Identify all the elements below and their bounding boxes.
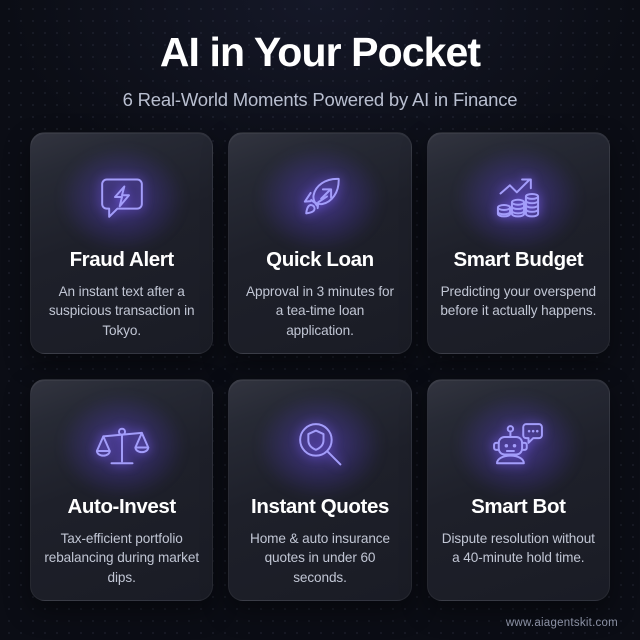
rocket-icon <box>241 155 398 239</box>
card-title: Fraud Alert <box>70 248 174 272</box>
card-description: Tax-efficient portfolio rebalancing duri… <box>43 529 200 587</box>
page-title: AI in Your Pocket <box>0 31 640 74</box>
card-title: Auto-Invest <box>67 495 175 519</box>
feature-card-instant-quotes[interactable]: Instant Quotes Home & auto insurance quo… <box>228 379 411 601</box>
card-description: Home & auto insurance quotes in under 60… <box>241 529 398 587</box>
card-description: Predicting your overspend before it actu… <box>440 282 597 321</box>
feature-card-smart-bot[interactable]: Smart Bot Dispute resolution without a 4… <box>427 379 610 601</box>
feature-card-quick-loan[interactable]: Quick Loan Approval in 3 minutes for a t… <box>228 132 411 354</box>
feature-card-smart-budget[interactable]: Smart Budget Predicting your overspend b… <box>427 132 610 354</box>
coin-stacks-growth-icon <box>440 155 597 239</box>
page-subtitle: 6 Real-World Moments Powered by AI in Fi… <box>0 89 640 111</box>
card-description: Dispute resolution without a 40-minute h… <box>440 529 597 568</box>
footer-website-label: www.aiagentskit.com <box>506 617 618 629</box>
feature-card-grid: Fraud Alert An instant text after a susp… <box>30 132 610 601</box>
card-description: An instant text after a suspicious trans… <box>43 282 200 340</box>
magnifier-shield-icon <box>241 402 398 486</box>
card-title: Instant Quotes <box>251 495 389 519</box>
poster-header: AI in Your Pocket 6 Real-World Moments P… <box>0 0 640 111</box>
feature-card-fraud-alert[interactable]: Fraud Alert An instant text after a susp… <box>30 132 213 354</box>
poster-canvas: AI in Your Pocket 6 Real-World Moments P… <box>0 0 640 640</box>
card-title: Smart Bot <box>471 495 565 519</box>
robot-chat-icon <box>440 402 597 486</box>
card-description: Approval in 3 minutes for a tea-time loa… <box>241 282 398 340</box>
balance-scale-icon <box>43 402 200 486</box>
chat-bubble-lightning-icon <box>43 155 200 239</box>
card-title: Quick Loan <box>266 248 374 272</box>
card-title: Smart Budget <box>454 248 584 272</box>
feature-card-auto-invest[interactable]: Auto-Invest Tax-efficient portfolio reba… <box>30 379 213 601</box>
